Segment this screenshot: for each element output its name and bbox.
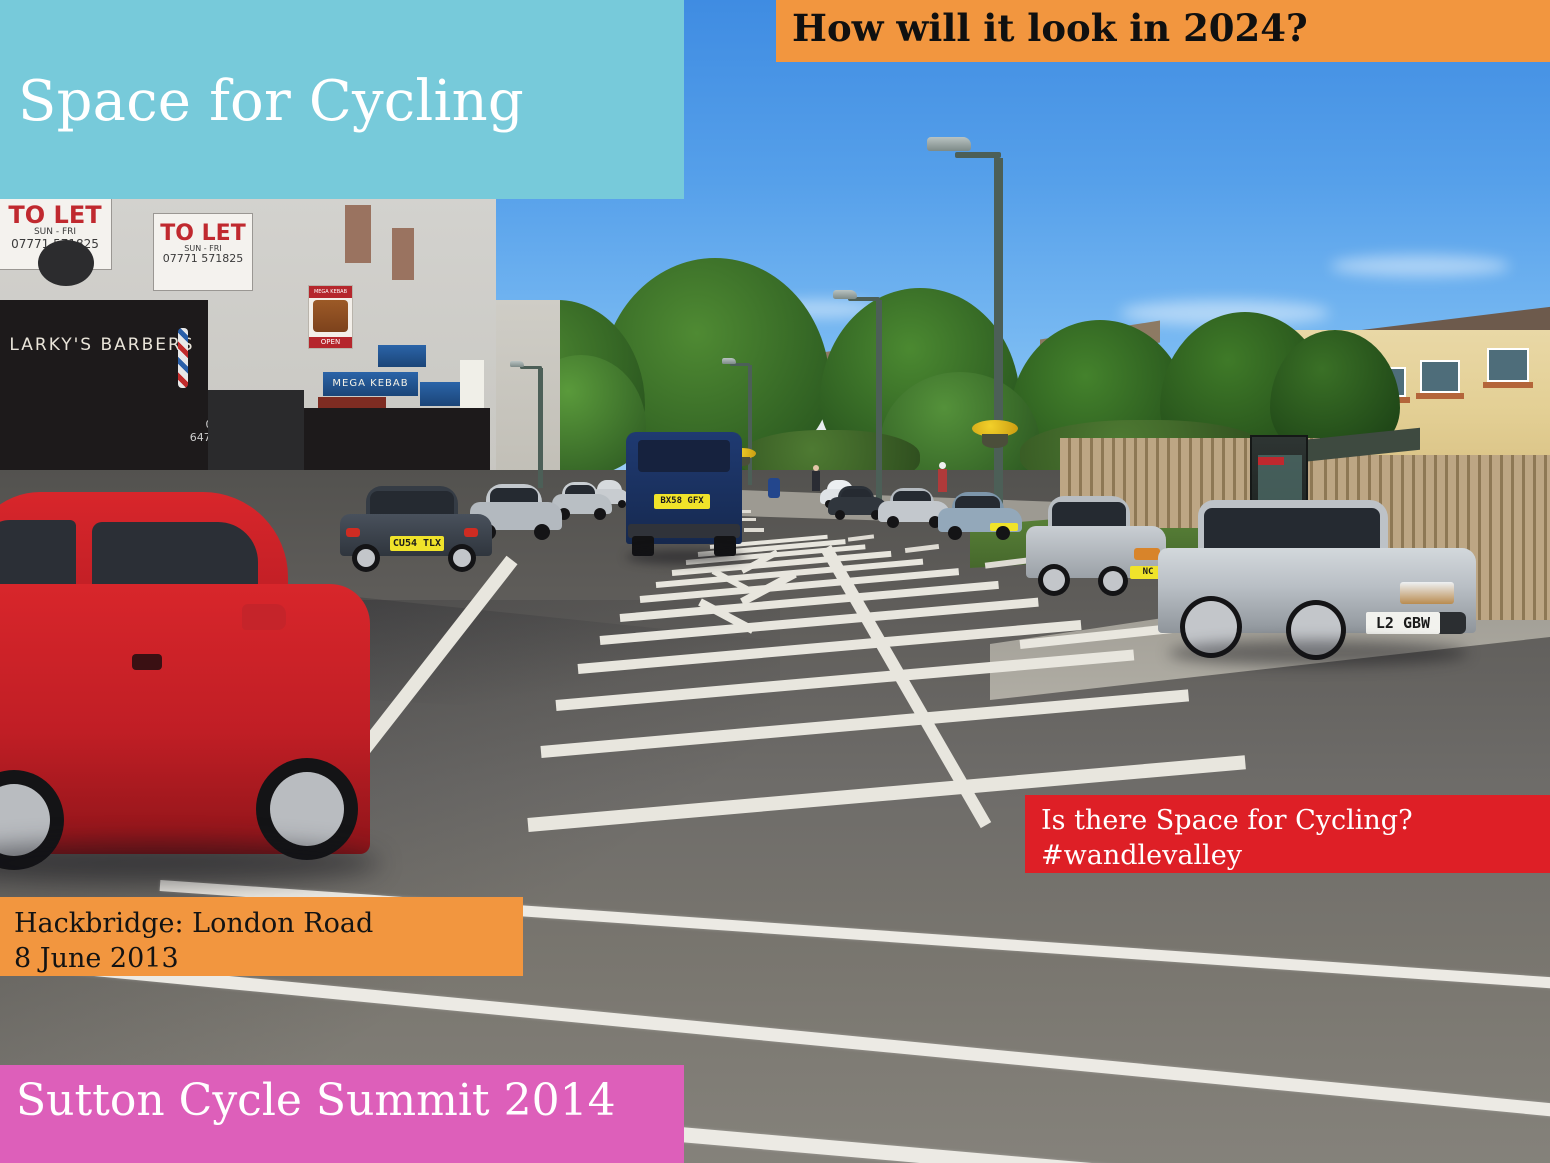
car-rim (1043, 569, 1065, 591)
car-tyre (534, 524, 550, 540)
car-tyre (448, 544, 476, 572)
chimney (345, 205, 371, 263)
car-tyre (594, 508, 606, 520)
car-rim (270, 772, 344, 846)
slide-title: Space for Cycling (18, 74, 524, 130)
street-lamp-tall (994, 158, 1003, 508)
caption-date: 8 June 2013 (14, 941, 373, 976)
street-lamp-far-head (722, 358, 736, 364)
street-lamp-mid-head (833, 290, 857, 299)
car-tyre (948, 526, 962, 540)
number-plate: CU54 TLX (390, 536, 444, 551)
basket-pot (982, 434, 1008, 448)
car-tyre (1038, 564, 1070, 596)
number-plate: BX58 GFX (654, 494, 710, 509)
cta-line-1: Is there Space for Cycling? (1041, 804, 1413, 839)
telephone-box-label (1258, 457, 1284, 465)
car-headlamp (1134, 548, 1160, 560)
parked-car-micra-right: NC (1026, 496, 1166, 598)
barbers-fascia: LARKY'S BARBERS (6, 335, 198, 355)
car-shadow (1168, 640, 1468, 666)
event-name: Sutton Cycle Summit 2014 (16, 1079, 616, 1123)
van-shadow (626, 550, 746, 564)
barber-pole (178, 328, 188, 388)
question-banner: How will it look in 2024? (776, 0, 1550, 62)
car-rim (1103, 571, 1123, 591)
car-tyre (1098, 566, 1128, 596)
street-lamp-tall-head (927, 137, 971, 151)
car-headlamp (1400, 582, 1454, 604)
cta-hashtag: #wandlevalley (1041, 839, 1413, 874)
caption-location: Hackbridge: London Road (14, 906, 373, 941)
window-sill (1416, 393, 1464, 399)
window (1420, 360, 1460, 393)
car-wing-mirror (242, 604, 286, 630)
shop-fascia-blue (378, 345, 426, 367)
caption-text: Hackbridge: London Road 8 June 2013 (14, 906, 373, 976)
kebab-poster: MEGA KEBAB OPEN (308, 285, 353, 349)
parked-car-focus-right: L2 GBW (1158, 500, 1476, 662)
street-lamp-left-head (510, 361, 524, 367)
to-let-title: TO LET (154, 222, 252, 245)
kebab-poster-image (313, 300, 348, 332)
call-to-action-banner: Is there Space for Cycling? #wandlevalle… (1025, 795, 1550, 873)
street-lamp-left (538, 368, 543, 488)
car-tyre (996, 526, 1010, 540)
chimney (392, 228, 414, 280)
car-tyre (835, 510, 845, 520)
number-plate: L2 GBW (1366, 612, 1440, 634)
window (1487, 348, 1529, 382)
litter-bin (768, 478, 780, 498)
satellite-dish (38, 240, 94, 286)
event-footer-banner: Sutton Cycle Summit 2014 (0, 1065, 684, 1163)
pedestrian (812, 465, 820, 491)
street-lamp-mid (876, 300, 882, 500)
cta-text: Is there Space for Cycling? #wandlevalle… (1041, 804, 1413, 873)
street-lamp-tall-arm (955, 152, 1001, 158)
car-taillamp (464, 528, 478, 537)
window-sill (1483, 382, 1533, 388)
photo-caption-banner: Hackbridge: London Road 8 June 2013 (0, 897, 523, 976)
car-door-handle (132, 654, 162, 670)
van-window (638, 440, 730, 472)
car-tyre (618, 500, 626, 508)
title-banner: Space for Cycling (0, 0, 684, 199)
car-tyre (887, 516, 899, 528)
to-let-title: TO LET (0, 203, 111, 228)
red-hatchback-foreground (0, 492, 390, 872)
pedestrian-body (812, 471, 820, 491)
kebab-poster-open: OPEN (309, 337, 352, 348)
parked-car-blue-right (938, 492, 1022, 540)
hanging-flower-basket (972, 420, 1018, 450)
pedestrian-head (939, 462, 946, 469)
question-text: How will it look in 2024? (792, 10, 1308, 47)
to-let-phone: 07771 571825 (154, 253, 252, 265)
car-rim (453, 549, 471, 567)
cloud (1330, 255, 1510, 277)
kebab-fascia: MEGA KEBAB (323, 372, 418, 396)
presentation-slide: TO LET SUN - FRI 07771 571825 TO LET SUN… (0, 0, 1550, 1163)
kebab-poster-title: MEGA KEBAB (309, 286, 352, 298)
to-let-sign-right: TO LET SUN - FRI 07771 571825 (153, 213, 253, 291)
blue-van-centre: BX58 GFX (626, 432, 750, 562)
